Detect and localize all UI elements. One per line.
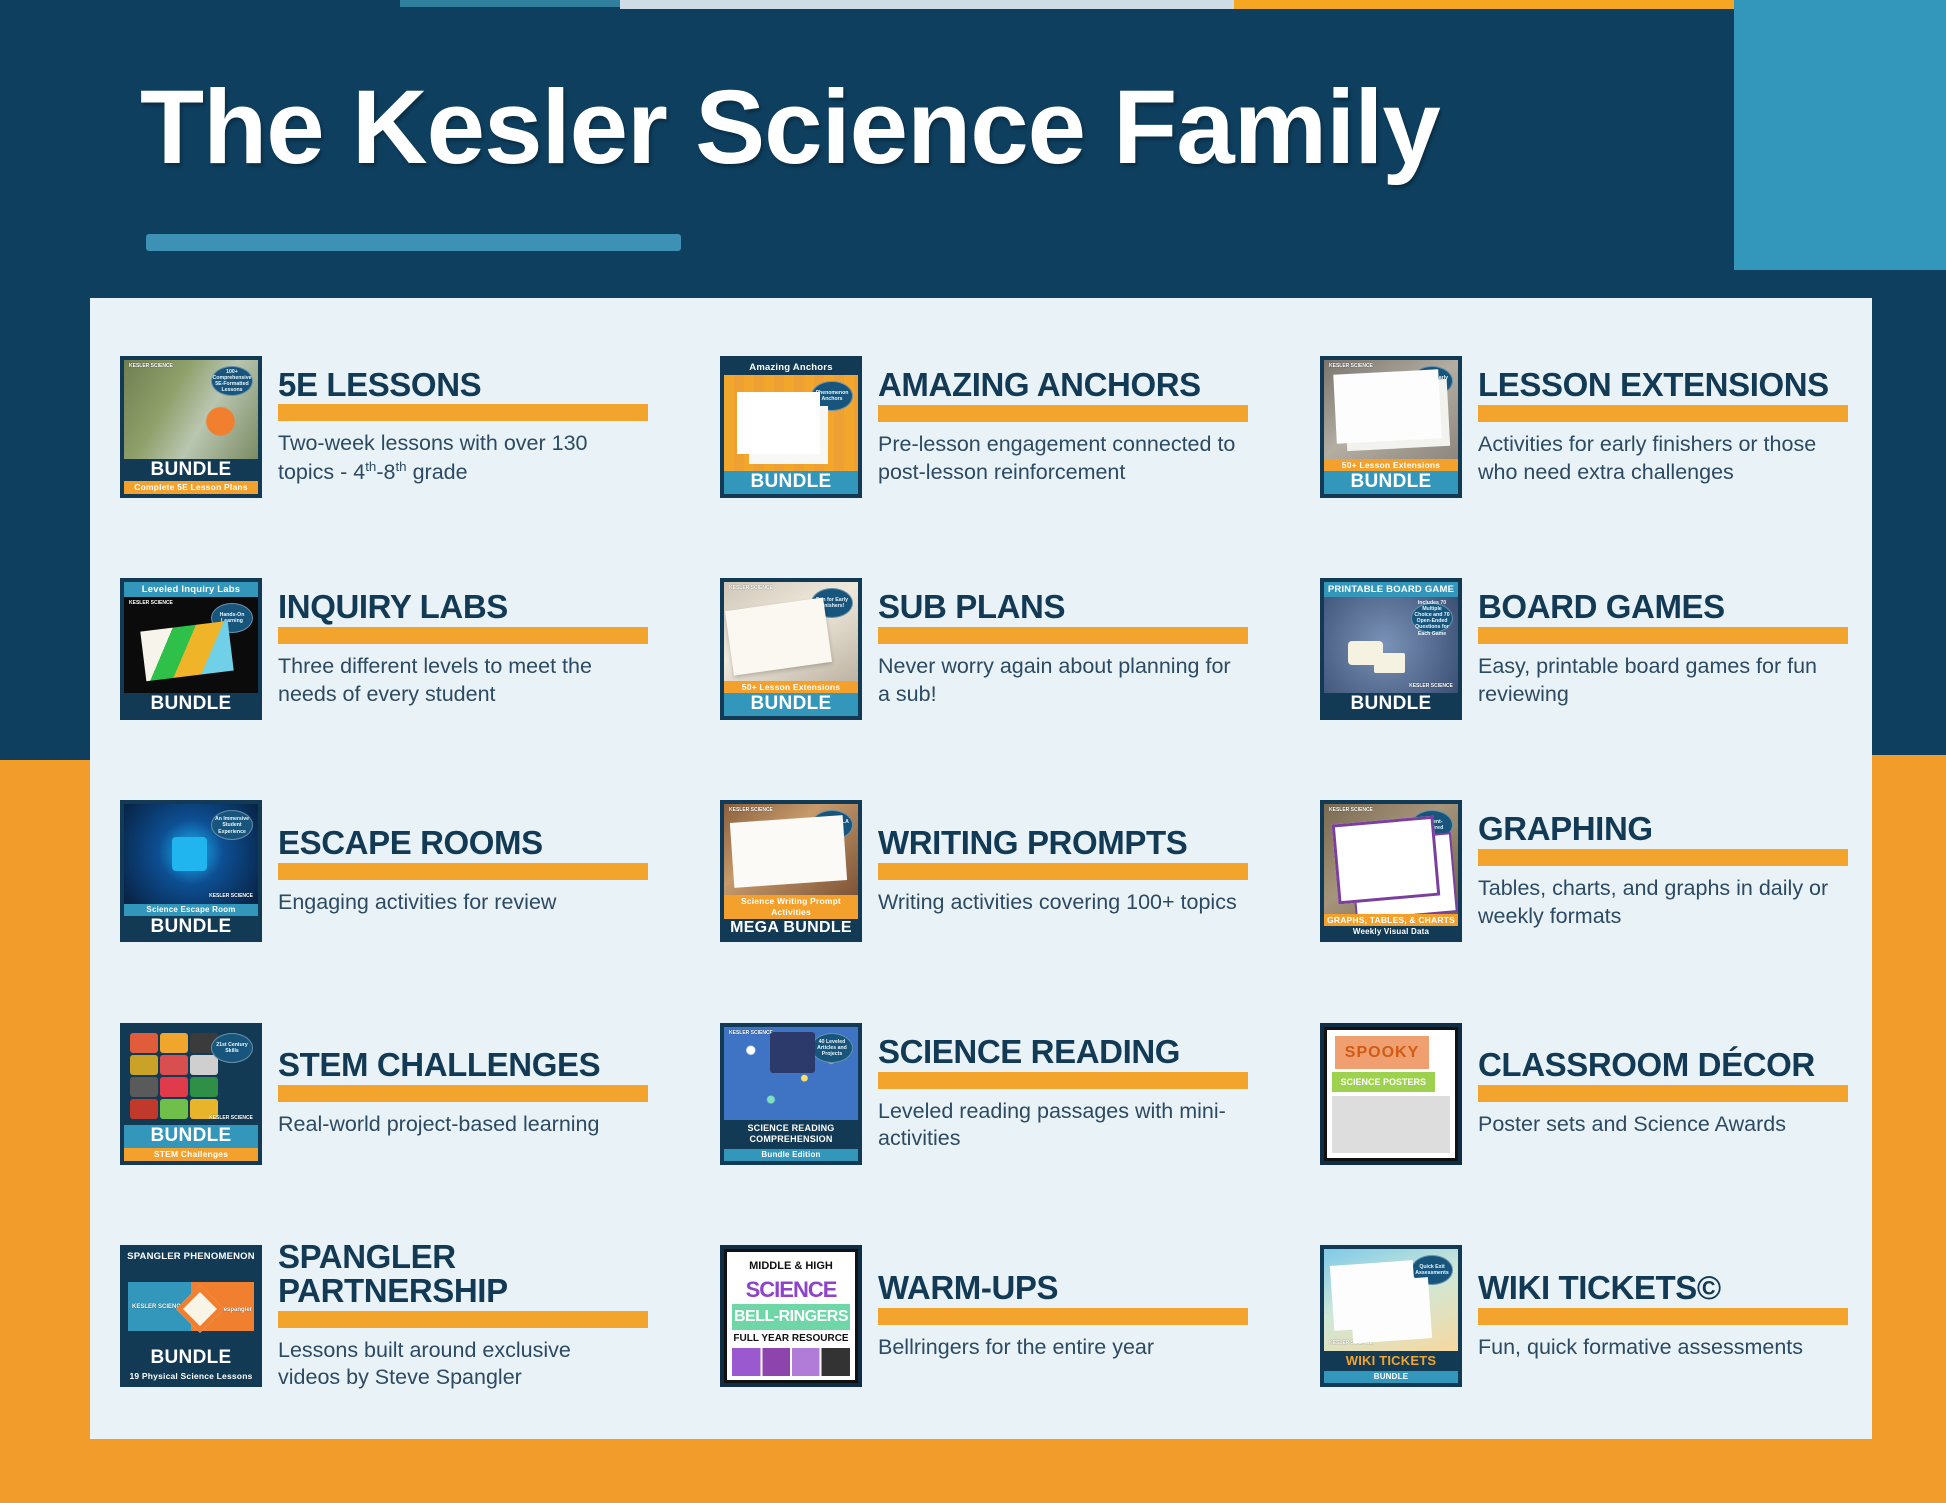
bellringer-line-1: MIDDLE & HIGH — [732, 1256, 850, 1276]
thumbnail-art-worksheets: KESLER SCIENCE Fun for Early Finishers! — [1324, 360, 1458, 458]
kesler-science-logo-icon: KESLER SCIENCE — [1409, 684, 1453, 689]
kesler-science-logo-icon: KESLER SCIENCE — [729, 586, 773, 591]
poster-word-spooky: SPOOKY — [1335, 1036, 1430, 1069]
thumbnail-art-wiki-tickets: Quick Exit Assessments KESLER SCIENCE — [1324, 1249, 1458, 1351]
bellringer-poster-strip — [732, 1348, 850, 1376]
card-title: SCIENCE READING — [878, 1035, 1290, 1069]
bundle-label: BUNDLE — [124, 693, 258, 716]
bundle-label: BUNDLE — [724, 471, 858, 494]
thumbnail-inquiry-labs[interactable]: Leveled Inquiry Labs KESLER SCIENCE Hand… — [120, 578, 262, 720]
thumbnail-art-stem-icons: 21st Century Skills KESLER SCIENCE — [124, 1027, 258, 1125]
thumbnail-strip: Science Writing Prompt Activities — [724, 895, 858, 918]
bundle-label: BUNDLE — [1324, 1371, 1458, 1383]
badge-icon: 100+ Comprehensive 5E-Formatted Lessons — [211, 366, 253, 396]
stem-icon-8 — [160, 1077, 188, 1097]
thumbnail-art-writing-sheets: KESLER SCIENCE Integrate ELA Skills! — [724, 804, 858, 895]
product-card-writing-prompts[interactable]: KESLER SCIENCE Integrate ELA Skills! Sci… — [690, 760, 1290, 982]
thumbnail-heading: Leveled Inquiry Labs — [124, 582, 258, 597]
bellringer-line-4: FULL YEAR RESOURCE — [732, 1330, 850, 1347]
card-description: Leveled reading passages with mini-activ… — [878, 1098, 1238, 1153]
thumbnail-art-anemone: KESLER SCIENCE 100+ Comprehensive 5E-For… — [124, 360, 258, 458]
title-orange-bar — [1478, 405, 1848, 422]
badge-icon: Quick Exit Assessments — [1411, 1255, 1453, 1285]
card-description: Writing activities covering 100+ topics — [878, 889, 1238, 917]
thumbnail-warm-ups[interactable]: MIDDLE & HIGH SCIENCE BELL-RINGERS FULL … — [720, 1245, 862, 1387]
product-card-board-games[interactable]: PRINTABLE BOARD GAME Includes 70 Multipl… — [1290, 538, 1872, 760]
card-description: Pre-lesson engagement connected to post-… — [878, 431, 1238, 486]
stem-icon-10 — [130, 1099, 158, 1119]
kesler-science-logo-icon: KESLER SCIENCE — [129, 364, 173, 369]
card-title: LESSON EXTENSIONS — [1478, 368, 1872, 402]
badge-icon: 40 Leveled Articles and Projects — [811, 1033, 853, 1063]
thumbnail-classroom-decor[interactable]: SPOOKY SCIENCE POSTERS — [1320, 1023, 1462, 1165]
card-title: WRITING PROMPTS — [878, 826, 1290, 860]
thumbnail-title-line: SCIENCE READING COMPREHENSION — [724, 1120, 858, 1149]
card-description: Engaging activities for review — [278, 889, 638, 917]
kesler-science-logo-icon: KESLER SCIENCE — [1329, 1341, 1373, 1346]
product-card-escape-rooms[interactable]: An Immersive Student Experience KESLER S… — [90, 760, 690, 982]
bundle-label: BUNDLE — [124, 916, 258, 939]
thumbnail-board-games[interactable]: PRINTABLE BOARD GAME Includes 70 Multipl… — [1320, 578, 1462, 720]
card-title: WARM-UPS — [878, 1271, 1290, 1305]
card-text-block: ESCAPE ROOMS Engaging activities for rev… — [278, 826, 690, 917]
thumbnail-strip: GRAPHS, TABLES, & CHARTS — [1324, 914, 1458, 927]
title-orange-bar — [878, 1308, 1248, 1325]
title-orange-bar — [278, 627, 648, 644]
badge-icon: Fun for Early Finishers! — [811, 588, 853, 618]
page-title: The Kesler Science Family — [140, 68, 1440, 188]
title-orange-bar — [278, 1311, 648, 1328]
title-orange-bar — [1478, 849, 1848, 866]
stem-icon-4 — [130, 1055, 158, 1075]
thumbnail-amazing-anchors[interactable]: Amazing Anchors Phenomenon Anchors BUNDL… — [720, 356, 862, 498]
title-orange-bar — [278, 404, 648, 421]
content-panel: KESLER SCIENCE 100+ Comprehensive 5E-For… — [90, 298, 1872, 1439]
stem-icon-6 — [190, 1055, 218, 1075]
thumbnail-wiki-tickets[interactable]: Quick Exit Assessments KESLER SCIENCE WI… — [1320, 1245, 1462, 1387]
thumbnail-strip: Complete 5E Lesson Plans — [124, 481, 258, 494]
thumbnail-escape-rooms[interactable]: An Immersive Student Experience KESLER S… — [120, 800, 262, 942]
thumbnail-strip: 19 Physical Science Lessons — [124, 1370, 258, 1383]
thumbnail-art-digital-lock: An Immersive Student Experience KESLER S… — [124, 804, 258, 903]
title-orange-bar — [1478, 1085, 1848, 1102]
stem-icon-5 — [160, 1055, 188, 1075]
card-text-block: INQUIRY LABS Three different levels to m… — [278, 590, 690, 708]
kesler-science-logo-icon: KESLER SCIENCE — [1329, 364, 1373, 369]
kesler-science-logo-icon: KESLER SCIENCE — [209, 1116, 253, 1121]
card-text-block: CLASSROOM DÉCOR Poster sets and Science … — [1478, 1048, 1872, 1139]
desc-part-2: -8 — [376, 460, 395, 484]
badge-icon: Fun for Early Finishers! — [1411, 366, 1453, 396]
title-orange-bar — [278, 1085, 648, 1102]
card-text-block: LESSON EXTENSIONS Activities for early f… — [1478, 368, 1872, 486]
stem-icon-1 — [130, 1033, 158, 1053]
badge-icon: 21st Century Skills — [211, 1033, 253, 1063]
kesler-science-logo-icon: KESLER SCIENCE — [209, 894, 253, 899]
bundle-label: BUNDLE — [124, 1347, 258, 1370]
thumbnail-spangler-partnership[interactable]: SPANGLER PHENOMENON KESLER SCIENCE steve… — [120, 1245, 262, 1387]
card-description: Activities for early finishers or those … — [1478, 431, 1838, 486]
card-text-block: STEM CHALLENGES Real-world project-based… — [278, 1048, 690, 1139]
thumbnail-strip: 50+ Lesson Extensions — [1324, 459, 1458, 472]
product-card-5e-lessons[interactable]: KESLER SCIENCE 100+ Comprehensive 5E-For… — [90, 316, 690, 538]
desc-part-3: grade — [407, 460, 468, 484]
card-title: CLASSROOM DÉCOR — [1478, 1048, 1872, 1082]
thumbnail-art-anchors: Phenomenon Anchors — [724, 375, 858, 471]
bundle-label: MEGA BUNDLE — [724, 919, 858, 939]
card-title: SPANGLER PARTNERSHIP — [278, 1240, 690, 1308]
product-grid: KESLER SCIENCE 100+ Comprehensive 5E-For… — [90, 298, 1872, 1439]
card-text-block: SPANGLER PARTNERSHIP Lessons built aroun… — [278, 1240, 690, 1392]
poster-header: The Kesler Science Family — [0, 0, 1820, 300]
thumbnail-science-reading[interactable]: KESLER SCIENCE 40 Leveled Articles and P… — [720, 1023, 862, 1165]
card-title: GRAPHING — [1478, 812, 1872, 846]
thumbnail-art-charts: KESLER SCIENCE Student-Centered — [1324, 804, 1458, 913]
thumbnail-stem-challenges[interactable]: 21st Century Skills KESLER SCIENCE BUNDL… — [120, 1023, 262, 1165]
thumbnail-art-lab-equipment: KESLER SCIENCE Hands-On Learning — [124, 597, 258, 693]
card-text-block: SUB PLANS Never worry again about planni… — [878, 590, 1290, 708]
badge-icon: Integrate ELA Skills! — [811, 810, 853, 840]
product-card-amazing-anchors[interactable]: Amazing Anchors Phenomenon Anchors BUNDL… — [690, 316, 1290, 538]
card-description: Never worry again about planning for a s… — [878, 653, 1238, 708]
title-orange-bar — [878, 1072, 1248, 1089]
card-description: Tables, charts, and graphs in daily or w… — [1478, 875, 1838, 930]
thumbnail-strip: 50+ Lesson Extensions — [724, 681, 858, 694]
badge-icon: Phenomenon Anchors — [811, 381, 853, 411]
card-title: INQUIRY LABS — [278, 590, 690, 624]
bundle-label: Bundle Edition — [724, 1149, 858, 1161]
card-text-block: GRAPHING Tables, charts, and graphs in d… — [1478, 812, 1872, 930]
badge-icon: An Immersive Student Experience — [211, 810, 253, 840]
poster-root: The Kesler Science Family KESLER SCIENCE… — [0, 0, 1946, 1503]
card-title: ESCAPE ROOMS — [278, 826, 690, 860]
title-orange-bar — [278, 863, 648, 880]
card-text-block: BOARD GAMES Easy, printable board games … — [1478, 590, 1872, 708]
card-text-block: WIKI TICKETS© Fun, quick formative asses… — [1478, 1271, 1872, 1362]
thumbnail-art-board-game: Includes 70 Multiple Choice and 70 Open-… — [1324, 597, 1458, 693]
product-card-wiki-tickets[interactable]: Quick Exit Assessments KESLER SCIENCE WI… — [1290, 1205, 1872, 1427]
card-title: 5E LESSONS — [278, 368, 690, 402]
product-card-science-reading[interactable]: KESLER SCIENCE 40 Leveled Articles and P… — [690, 983, 1290, 1205]
card-title: WIKI TICKETS© — [1478, 1271, 1872, 1305]
thumbnail-lesson-extensions[interactable]: KESLER SCIENCE Fun for Early Finishers! … — [1320, 356, 1462, 498]
card-title: BOARD GAMES — [1478, 590, 1872, 624]
kesler-science-logo-icon: KESLER SCIENCE — [729, 808, 773, 813]
card-description: Fun, quick formative assessments — [1478, 1334, 1838, 1362]
product-card-lesson-extensions[interactable]: KESLER SCIENCE Fun for Early Finishers! … — [1290, 316, 1872, 538]
thumbnail-title-line: WIKI TICKETS — [1324, 1351, 1458, 1371]
poster-word-science-posters: SCIENCE POSTERS — [1332, 1072, 1434, 1092]
badge-icon: Includes 70 Multiple Choice and 70 Open-… — [1411, 603, 1453, 633]
card-description: Real-world project-based learning — [278, 1111, 638, 1139]
thumbnail-graphing[interactable]: KESLER SCIENCE Student-Centered GRAPHS, … — [1320, 800, 1462, 942]
card-description: Lessons built around exclusive videos by… — [278, 1337, 638, 1392]
title-orange-bar — [1478, 627, 1848, 644]
thumbnail-art-bellringers: MIDDLE & HIGH SCIENCE BELL-RINGERS FULL … — [724, 1249, 858, 1383]
thumbnail-strip: STEM Challenges — [124, 1148, 258, 1161]
stem-icon-2 — [160, 1033, 188, 1053]
product-card-sub-plans[interactable]: KESLER SCIENCE Fun for Early Finishers! … — [690, 538, 1290, 760]
badge-icon: Hands-On Learning — [211, 603, 253, 633]
product-card-warm-ups[interactable]: MIDDLE & HIGH SCIENCE BELL-RINGERS FULL … — [690, 1205, 1290, 1427]
kesler-science-logo-icon: KESLER SCIENCE — [729, 1031, 773, 1036]
product-card-spangler-partnership[interactable]: SPANGLER PHENOMENON KESLER SCIENCE steve… — [90, 1205, 690, 1427]
bellringer-line-2: SCIENCE — [732, 1276, 850, 1304]
card-text-block: SCIENCE READING Leveled reading passages… — [878, 1035, 1290, 1153]
bundle-label: BUNDLE — [724, 693, 858, 716]
card-text-block: WRITING PROMPTS Writing activities cover… — [878, 826, 1290, 917]
product-card-inquiry-labs[interactable]: Leveled Inquiry Labs KESLER SCIENCE Hand… — [90, 538, 690, 760]
title-underline-rule — [146, 234, 681, 251]
desc-sup-1: th — [365, 459, 376, 474]
thumbnail-art-spangler: KESLER SCIENCE stevespangler — [124, 1264, 258, 1347]
card-text-block: AMAZING ANCHORS Pre-lesson engagement co… — [878, 368, 1290, 486]
thumbnail-art-papers: KESLER SCIENCE Fun for Early Finishers! — [724, 582, 858, 680]
thumbnail-heading: SPANGLER PHENOMENON — [124, 1249, 258, 1264]
card-title: STEM CHALLENGES — [278, 1048, 690, 1082]
poster-thumbnail-grid — [1332, 1096, 1450, 1152]
bellringer-line-3: BELL-RINGERS — [732, 1304, 850, 1330]
stem-icon-11 — [160, 1099, 188, 1119]
card-title: SUB PLANS — [878, 590, 1290, 624]
title-orange-bar — [878, 627, 1248, 644]
title-orange-bar — [878, 405, 1248, 422]
kesler-science-logo-icon: KESLER SCIENCE — [1329, 808, 1373, 813]
card-text-block: 5E LESSONS Two-week lessons with over 13… — [278, 368, 690, 487]
card-description: Bellringers for the entire year — [878, 1334, 1238, 1362]
card-description: Easy, printable board games for fun revi… — [1478, 653, 1838, 708]
bundle-label: BUNDLE — [124, 1125, 258, 1148]
thumbnail-5e-lessons[interactable]: KESLER SCIENCE 100+ Comprehensive 5E-For… — [120, 356, 262, 498]
badge-icon: Student-Centered — [1411, 810, 1453, 840]
thumbnail-heading: Amazing Anchors — [724, 360, 858, 375]
card-title: AMAZING ANCHORS — [878, 368, 1290, 402]
thumbnail-writing-prompts[interactable]: KESLER SCIENCE Integrate ELA Skills! Sci… — [720, 800, 862, 942]
stem-icon-9 — [190, 1077, 218, 1097]
product-card-graphing[interactable]: KESLER SCIENCE Student-Centered GRAPHS, … — [1290, 760, 1872, 982]
thumbnail-heading: PRINTABLE BOARD GAME — [1324, 582, 1458, 597]
card-description: Poster sets and Science Awards — [1478, 1111, 1838, 1139]
bundle-label: Weekly Visual Data — [1324, 926, 1458, 938]
title-orange-bar — [1478, 1308, 1848, 1325]
desc-sup-2: th — [395, 459, 406, 474]
thumbnail-art-spooky-posters: SPOOKY SCIENCE POSTERS — [1324, 1027, 1458, 1161]
bundle-label: BUNDLE — [124, 459, 258, 482]
stem-icon-7 — [130, 1077, 158, 1097]
thumbnail-sub-plans[interactable]: KESLER SCIENCE Fun for Early Finishers! … — [720, 578, 862, 720]
product-card-stem-challenges[interactable]: 21st Century Skills KESLER SCIENCE BUNDL… — [90, 983, 690, 1205]
card-description: Three different levels to meet the needs… — [278, 653, 638, 708]
thumbnail-strip: Science Escape Room — [124, 904, 258, 916]
thumbnail-art-microscope: KESLER SCIENCE 40 Leveled Articles and P… — [724, 1027, 858, 1121]
product-card-classroom-decor[interactable]: SPOOKY SCIENCE POSTERS CLASSROOM DÉCOR P… — [1290, 983, 1872, 1205]
kesler-science-logo-icon: KESLER SCIENCE — [129, 601, 173, 606]
bundle-label: BUNDLE — [1324, 471, 1458, 494]
card-text-block: WARM-UPS Bellringers for the entire year — [878, 1271, 1290, 1362]
bundle-label: BUNDLE — [1324, 693, 1458, 716]
title-orange-bar — [878, 863, 1248, 880]
card-description: Two-week lessons with over 130 topics - … — [278, 430, 638, 486]
